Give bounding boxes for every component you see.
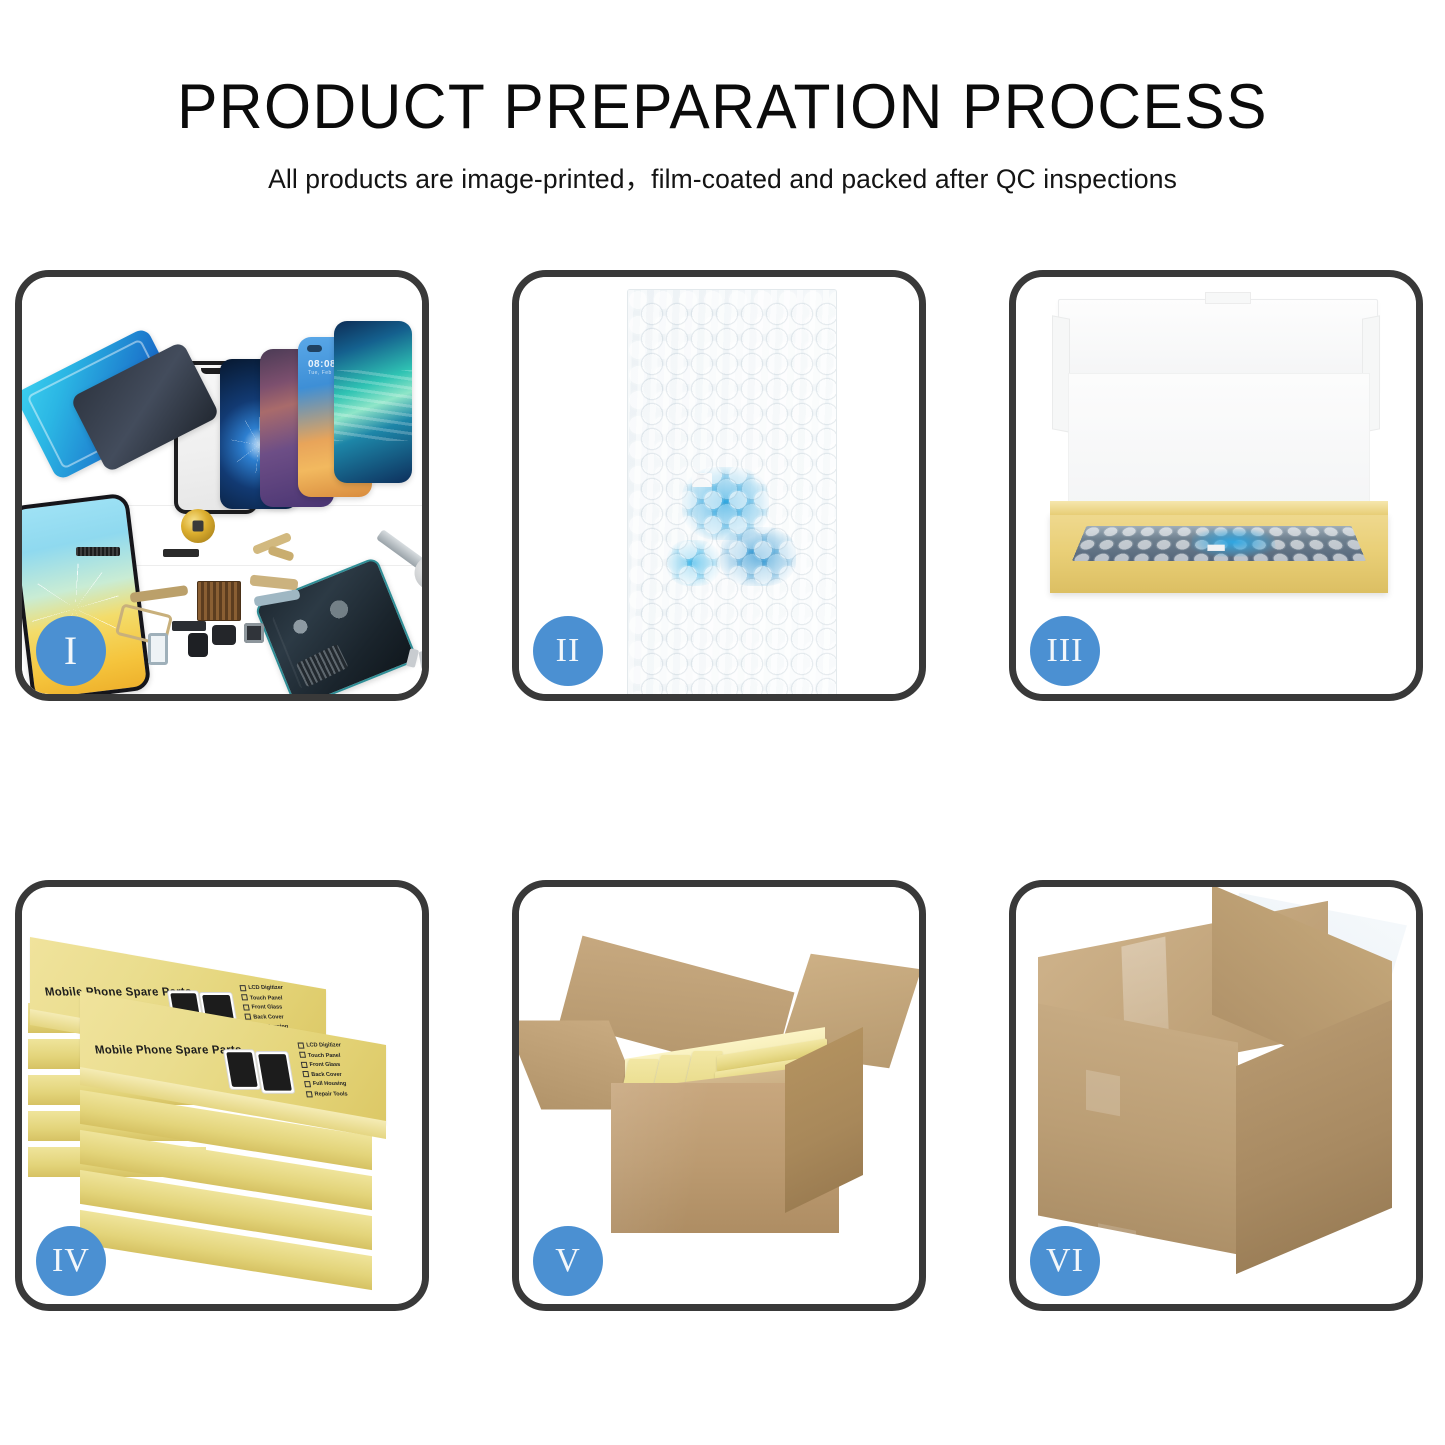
speaker-module-icon xyxy=(163,549,199,557)
qc-label-sticker xyxy=(1208,545,1225,551)
process-step-grid: 08:08 Tue, Feb 25 xyxy=(0,0,1445,1445)
step-panel-2-bubble-wrap[interactable]: II xyxy=(512,270,926,701)
step-panel-6-sealed-carton[interactable]: VI xyxy=(1009,880,1423,1311)
step-badge-4: IV xyxy=(36,1226,106,1296)
retail-box-brand-label: Mobile Phone Spare Parts xyxy=(94,1045,243,1057)
camera-module-icon xyxy=(212,625,236,645)
checklist-item: Front Glass xyxy=(301,1061,346,1071)
checklist-item: Full Housing xyxy=(304,1081,349,1091)
bubble-texture-back xyxy=(640,302,836,694)
step-badge-5: V xyxy=(533,1226,603,1296)
step-panel-5-open-carton[interactable]: V xyxy=(512,880,926,1311)
step-panel-3-open-box[interactable]: III xyxy=(1009,270,1423,701)
camera-module-icon xyxy=(188,633,208,657)
step-badge-3: III xyxy=(1030,616,1100,686)
retail-box-checklist: LCD Digitizer Touch Panel Front Glass Ba… xyxy=(297,1042,350,1101)
vibration-motor-icon xyxy=(172,621,206,631)
packing-tape-patch xyxy=(1098,1223,1136,1272)
carton-front-wall xyxy=(1038,1004,1238,1255)
sensor-module-icon xyxy=(244,623,264,643)
earpiece-mesh-icon xyxy=(76,547,120,556)
camera-punch-hole-icon xyxy=(307,345,322,352)
product-preparation-infographic: PRODUCT PREPARATION PROCESS All products… xyxy=(0,0,1445,1445)
sim-tray-icon xyxy=(148,633,168,665)
checklist-item: Repair Tools xyxy=(306,1090,351,1100)
box-inner-liner xyxy=(1068,373,1370,510)
checklist-item: LCD Digitizer xyxy=(239,984,284,994)
packing-tape-patch xyxy=(1086,1070,1120,1117)
bubble-wrap-bag xyxy=(627,289,837,694)
step-badge-6: VI xyxy=(1030,1226,1100,1296)
wrapped-screen-in-box xyxy=(1072,526,1366,561)
checklist-item: Front Glass xyxy=(243,1004,288,1014)
wireless-charging-coil-icon xyxy=(181,509,215,543)
checklist-item: Touch Panel xyxy=(299,1051,344,1061)
ic-chip-icon xyxy=(197,581,241,621)
checklist-item: Back Cover xyxy=(302,1071,347,1081)
screen-blue-reflection xyxy=(1190,529,1277,557)
box-screen-thumbnail xyxy=(255,1051,296,1094)
step-panel-4-box-stack[interactable]: Mobile Phone Spare Parts LCD Digitizer T… xyxy=(15,880,429,1311)
step-panel-1-phone-parts[interactable]: 08:08 Tue, Feb 25 xyxy=(15,270,429,701)
checklist-item: LCD Digitizer xyxy=(297,1042,342,1052)
step-badge-2: II xyxy=(533,616,603,686)
step-badge-1: I xyxy=(36,616,106,686)
phone-teal-display-icon xyxy=(334,321,412,483)
checklist-item: Touch Panel xyxy=(241,994,286,1004)
